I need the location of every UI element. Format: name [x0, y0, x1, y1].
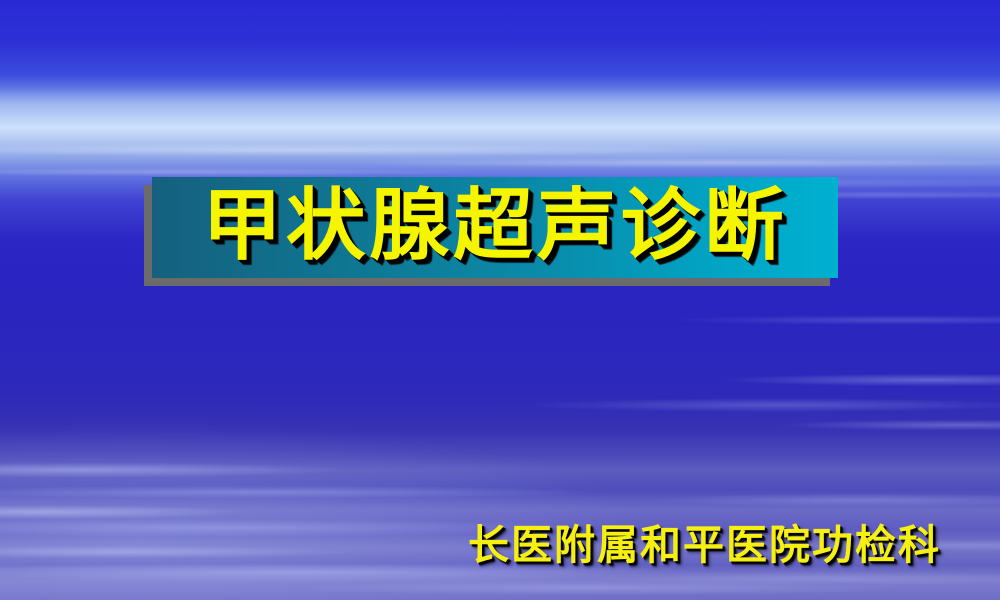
subtitle-affiliation: 长医附属和平医院功检科	[468, 524, 968, 567]
title-slide: 甲状腺超声诊断 长医附属和平医院功检科	[0, 0, 1000, 600]
background-gradient	[0, 0, 1000, 600]
page-title: 甲状腺超声诊断	[145, 175, 845, 276]
